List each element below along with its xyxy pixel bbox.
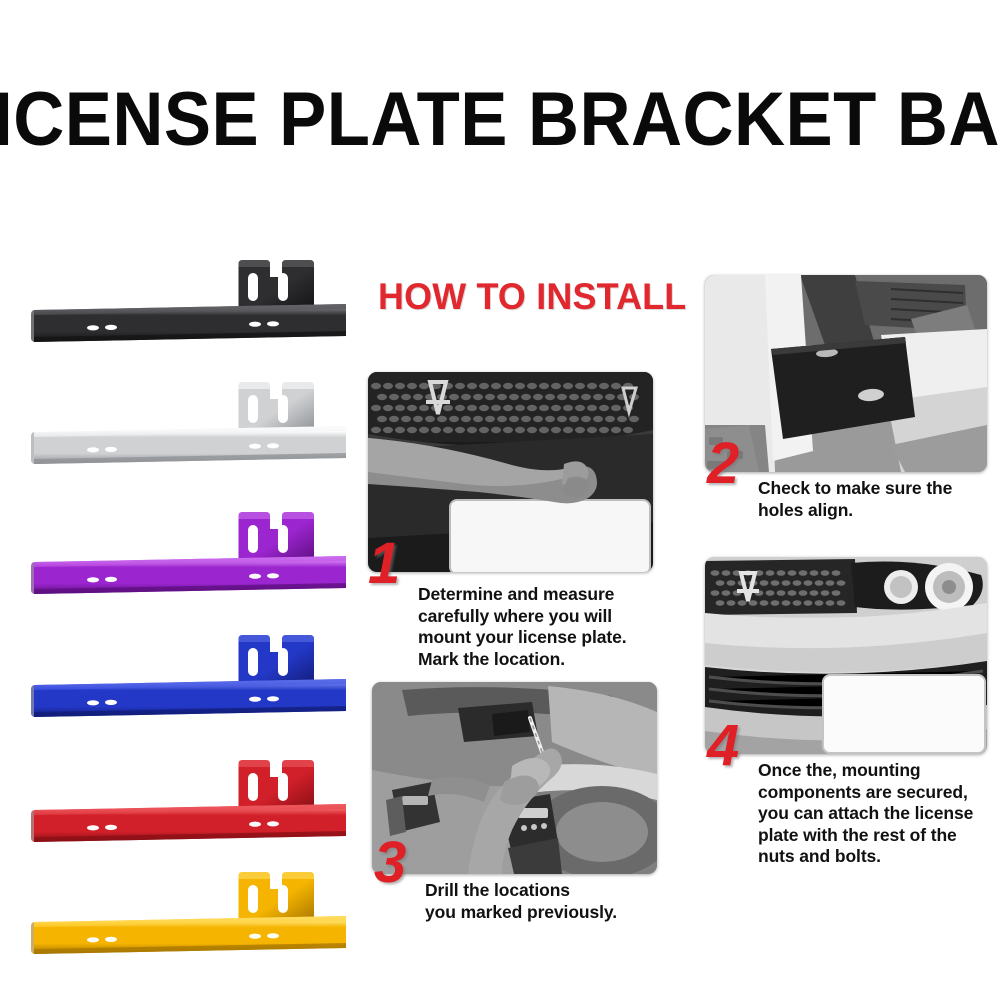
finished-install-front-bumper-photo — [705, 557, 987, 754]
bracket-shape-blue — [30, 633, 350, 741]
step-2-photo — [705, 275, 987, 472]
install-step-2: 2 Check to make sure the holes align. — [705, 275, 995, 535]
bracket-shape-black — [30, 258, 350, 366]
bracket-black[interactable] — [30, 258, 350, 366]
step-4-number: 4 — [707, 717, 739, 775]
bracket-shape-gold — [30, 870, 350, 978]
acura-grille-hand-holding-plate-photo — [368, 372, 653, 572]
step-2-text: Check to make sure the holes align. — [758, 478, 998, 521]
bracket-alignment-check-photo — [705, 275, 987, 472]
install-step-1: 1 Determine and measure carefully where … — [368, 372, 668, 672]
bracket-shape-red — [30, 758, 350, 866]
bracket-shape-purple — [30, 510, 350, 618]
bracket-shape-silver — [30, 380, 350, 488]
bracket-purple[interactable] — [30, 510, 350, 618]
title-bar: LICENSE PLATE BRACKET BAR — [0, 78, 1000, 162]
step-1-photo — [368, 372, 653, 572]
product-colorway-list — [30, 258, 350, 938]
drilling-bumper-photo — [372, 682, 657, 874]
step-2-number: 2 — [707, 435, 739, 493]
step-4-text: Once the, mounting components are secure… — [758, 760, 1000, 868]
step-3-text: Drill the locations you marked previousl… — [425, 880, 675, 923]
install-step-3: 3 Drill the locations you marked previou… — [372, 682, 672, 932]
page-title: LICENSE PLATE BRACKET BAR — [0, 82, 1000, 158]
bracket-gold[interactable] — [30, 870, 350, 978]
step-4-photo — [705, 557, 987, 754]
install-step-4: 4 Once the, mounting components are secu… — [705, 557, 995, 857]
how-to-install-heading: HOW TO INSTALL — [378, 276, 688, 320]
bracket-silver[interactable] — [30, 380, 350, 488]
bracket-blue[interactable] — [30, 633, 350, 741]
step-1-text: Determine and measure carefully where yo… — [418, 584, 668, 670]
step-3-photo — [372, 682, 657, 874]
bracket-red[interactable] — [30, 758, 350, 866]
step-3-number: 3 — [374, 834, 406, 892]
step-1-number: 1 — [368, 535, 400, 593]
